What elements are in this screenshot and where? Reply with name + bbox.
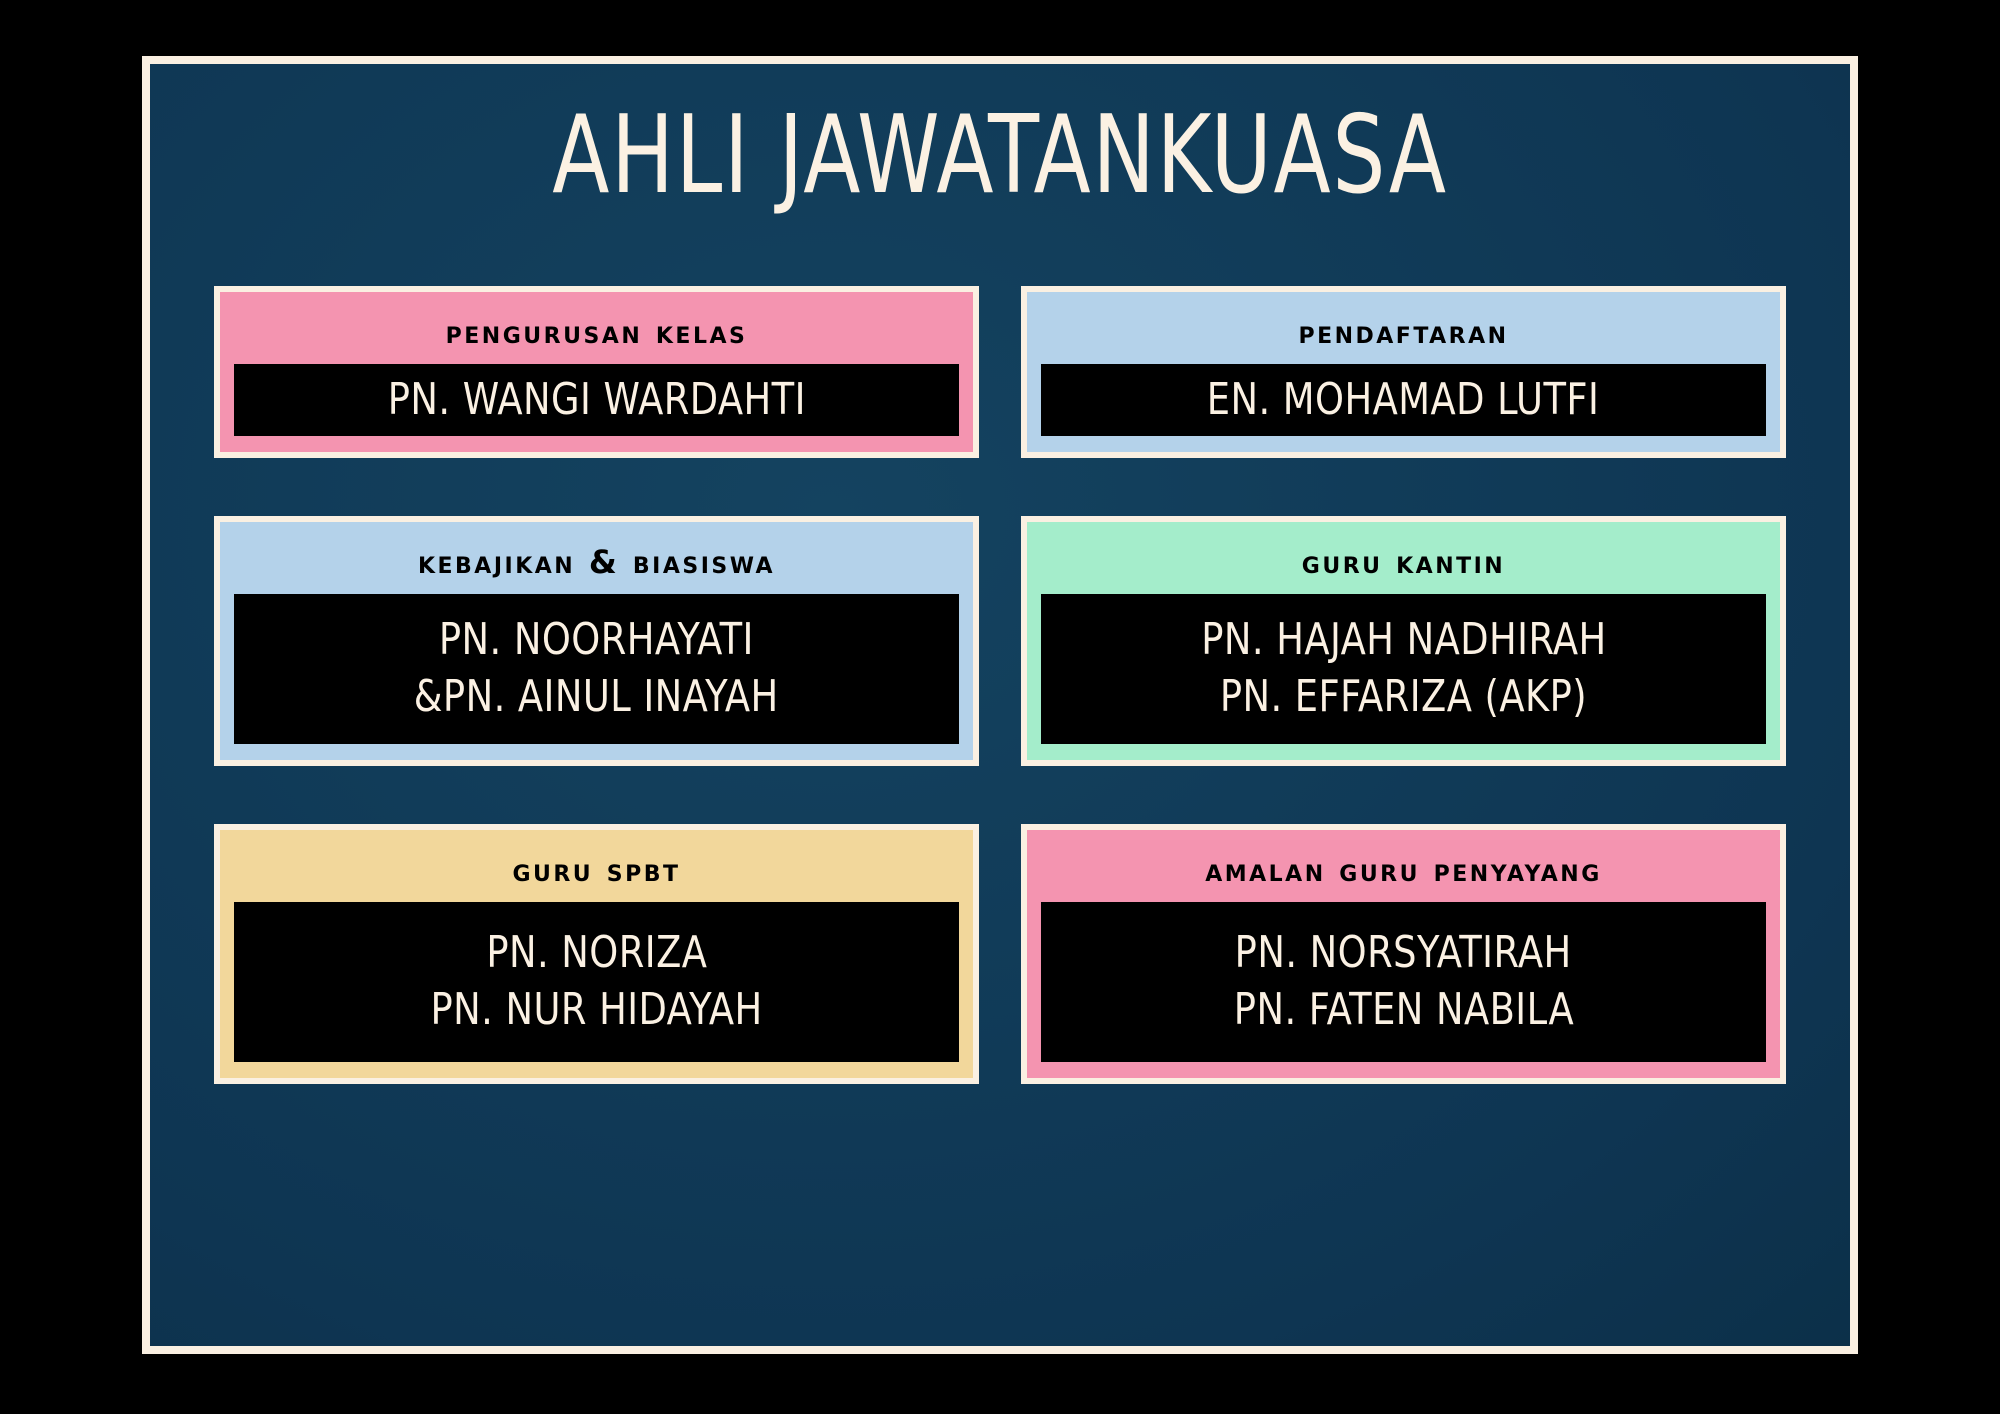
card-heading: PENDAFTARAN: [1041, 306, 1766, 364]
card-body: PENDAFTARANEN. MOHAMAD LUTFI: [1027, 292, 1780, 452]
card-name: PN. NUR HIDAYAH: [430, 982, 762, 1038]
poster-frame: AHLI JAWATANKUASA PENGURUSAN KELASPN. WA…: [142, 56, 1858, 1354]
card-heading: PENGURUSAN KELAS: [234, 306, 959, 364]
card-name: PN. NORSYATIRAH: [1235, 925, 1572, 981]
card-body: GURU SPBTPN. NORIZAPN. NUR HIDAYAH: [220, 830, 973, 1078]
card-name: PN. HAJAH NADHIRAH: [1201, 612, 1606, 668]
committee-card-guru-kantin[interactable]: GURU KANTINPN. HAJAH NADHIRAHPN. EFFARIZ…: [1021, 516, 1786, 766]
card-name: EN. MOHAMAD LUTFI: [1207, 372, 1600, 428]
card-name: &PN. AINUL INAYAH: [414, 669, 779, 725]
card-name-box: EN. MOHAMAD LUTFI: [1041, 364, 1766, 436]
committee-card-guru-spbt[interactable]: GURU SPBTPN. NORIZAPN. NUR HIDAYAH: [214, 824, 979, 1084]
committee-card-amalan-guru-penyayang[interactable]: AMALAN GURU PENYAYANGPN. NORSYATIRAHPN. …: [1021, 824, 1786, 1084]
card-name-box: PN. HAJAH NADHIRAHPN. EFFARIZA (AKP): [1041, 594, 1766, 744]
card-heading: KEBAJIKAN & BIASISWA: [234, 536, 959, 594]
card-heading: GURU KANTIN: [1041, 536, 1766, 594]
card-name-box: PN. WANGI WARDAHTI: [234, 364, 959, 436]
poster-root: AHLI JAWATANKUASA PENGURUSAN KELASPN. WA…: [0, 0, 2000, 1414]
card-name: PN. NORIZA: [486, 925, 707, 981]
card-body: PENGURUSAN KELASPN. WANGI WARDAHTI: [220, 292, 973, 452]
card-body: AMALAN GURU PENYAYANGPN. NORSYATIRAHPN. …: [1027, 830, 1780, 1078]
card-body: KEBAJIKAN & BIASISWAPN. NOORHAYATI&PN. A…: [220, 522, 973, 760]
committee-card-kebajikan-biasiswa[interactable]: KEBAJIKAN & BIASISWAPN. NOORHAYATI&PN. A…: [214, 516, 979, 766]
committee-card-pendaftaran[interactable]: PENDAFTARANEN. MOHAMAD LUTFI: [1021, 286, 1786, 458]
card-name-box: PN. NORSYATIRAHPN. FATEN NABILA: [1041, 902, 1766, 1062]
card-name: PN. EFFARIZA (AKP): [1220, 669, 1587, 725]
card-name: PN. NOORHAYATI: [439, 612, 754, 668]
committee-card-pengurusan-kelas[interactable]: PENGURUSAN KELASPN. WANGI WARDAHTI: [214, 286, 979, 458]
page-title: AHLI JAWATANKUASA: [269, 102, 1731, 210]
card-name: PN. FATEN NABILA: [1233, 982, 1573, 1038]
card-name-box: PN. NOORHAYATI&PN. AINUL INAYAH: [234, 594, 959, 744]
card-name-box: PN. NORIZAPN. NUR HIDAYAH: [234, 902, 959, 1062]
committee-card-grid: PENGURUSAN KELASPN. WANGI WARDAHTIPENDAF…: [214, 286, 1786, 1084]
poster-panel: AHLI JAWATANKUASA PENGURUSAN KELASPN. WA…: [150, 64, 1850, 1346]
card-heading: AMALAN GURU PENYAYANG: [1041, 844, 1766, 902]
card-heading: GURU SPBT: [234, 844, 959, 902]
card-body: GURU KANTINPN. HAJAH NADHIRAHPN. EFFARIZ…: [1027, 522, 1780, 760]
card-name: PN. WANGI WARDAHTI: [387, 372, 805, 428]
